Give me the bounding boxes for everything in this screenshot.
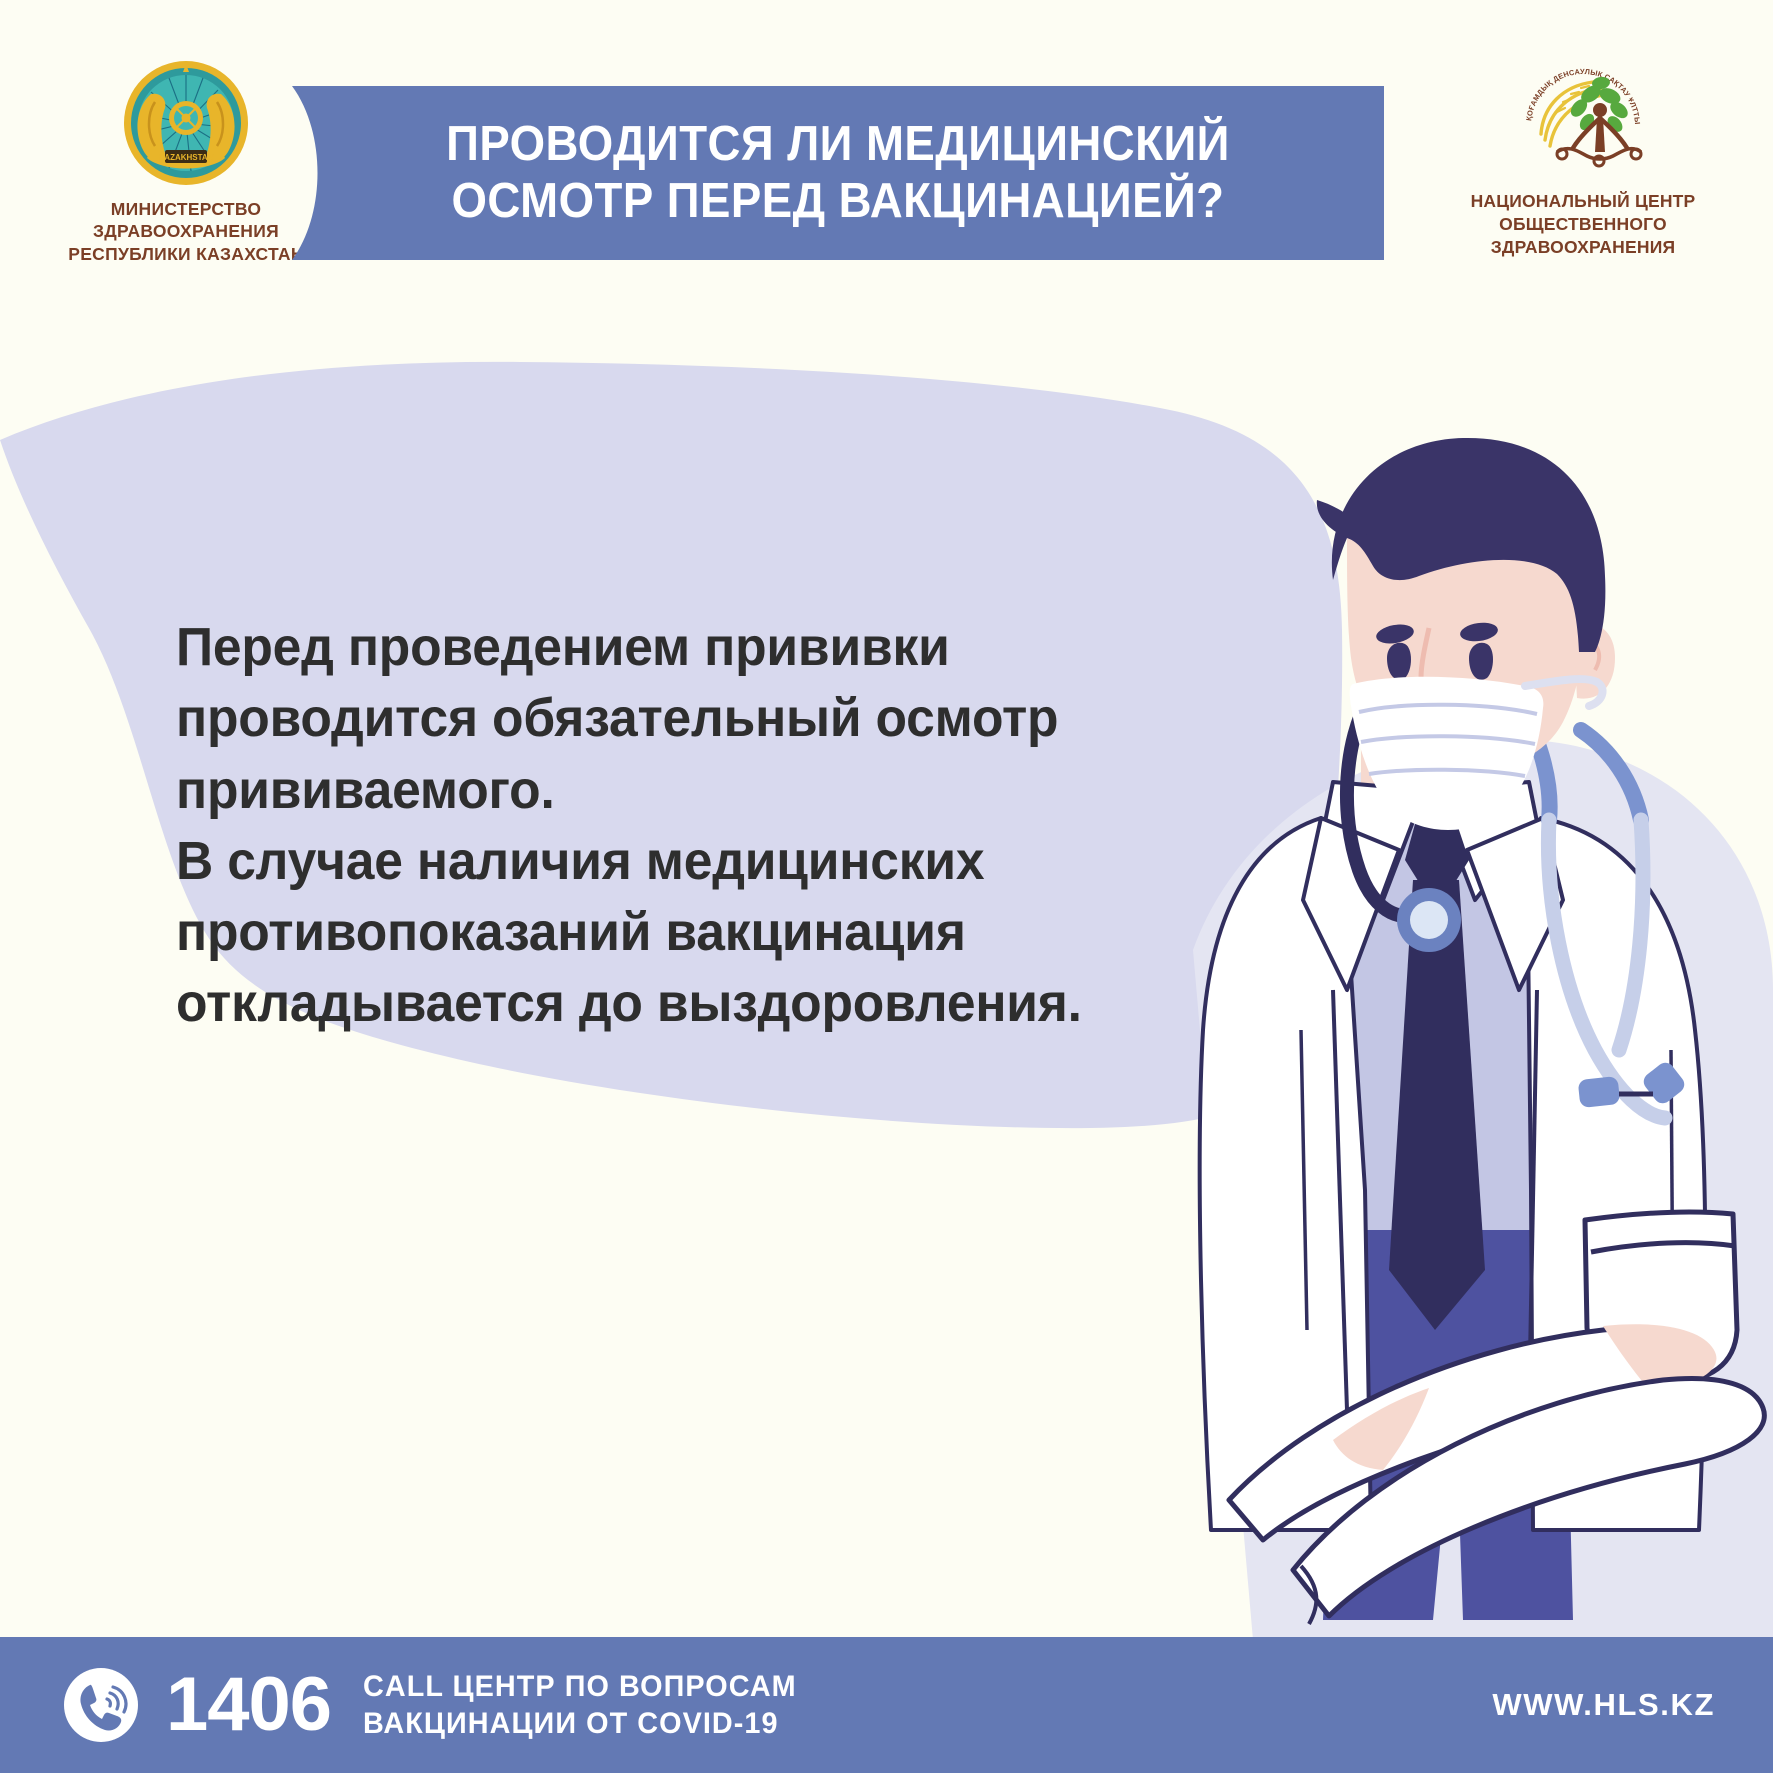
stethoscope-diaphragm: [1410, 901, 1448, 939]
doctor-in-mask-illustration: [1133, 430, 1773, 1640]
title-banner: ПРОВОДИТСЯ ЛИ МЕДИЦИНСКИЙ ОСМОТР ПЕРЕД В…: [292, 86, 1384, 260]
hotline-number: 1406: [166, 1667, 331, 1743]
banner-title-text: ПРОВОДИТСЯ ЛИ МЕДИЦИНСКИЙ ОСМОТР ПЕРЕД В…: [330, 86, 1346, 260]
poster-footer: 1406 CALL ЦЕНТР ПО ВОПРОСАМ ВАКЦИНАЦИИ О…: [0, 1637, 1773, 1773]
hotline-description: CALL ЦЕНТР ПО ВОПРОСАМ ВАКЦИНАЦИИ ОТ COV…: [363, 1668, 797, 1743]
poster-header: KAZAKHSTAN МИНИСТЕРСТВО ЗДРАВООХРАНЕНИЯ …: [0, 0, 1773, 300]
kazakhstan-state-emblem-icon: KAZAKHSTAN: [121, 58, 251, 188]
main-body-text: Перед проведением прививки проводится об…: [176, 612, 1093, 1040]
nphc-logo-caption: НАЦИОНАЛЬНЫЙ ЦЕНТР ОБЩЕСТВЕННОГО ЗДРАВОО…: [1433, 190, 1733, 258]
ministry-logo-caption: МИНИСТЕРСТВО ЗДРАВООХРАНЕНИЯ РЕСПУБЛИКИ …: [56, 198, 316, 265]
stethoscope-earpiece-left: [1578, 1076, 1621, 1108]
national-public-health-center-logo: ҚОҒАМДЫҚ ДЕНСАУЛЫҚ САҚТАУ ҰЛТТЫҚ ОРТАЛЫҒ…: [1433, 52, 1733, 258]
ministry-of-health-logo: KAZAKHSTAN МИНИСТЕРСТВО ЗДРАВООХРАНЕНИЯ …: [56, 58, 316, 265]
phone-call-icon: [62, 1666, 140, 1744]
emblem-inscription: KAZAKHSTAN: [159, 153, 214, 162]
infographic-poster: Перед проведением прививки проводится об…: [0, 0, 1773, 1773]
website-url[interactable]: WWW.HLS.KZ: [1492, 1687, 1715, 1723]
nphc-tree-emblem-icon: ҚОҒАМДЫҚ ДЕНСАУЛЫҚ САҚТАУ ҰЛТТЫҚ ОРТАЛЫҒ…: [1517, 52, 1649, 184]
